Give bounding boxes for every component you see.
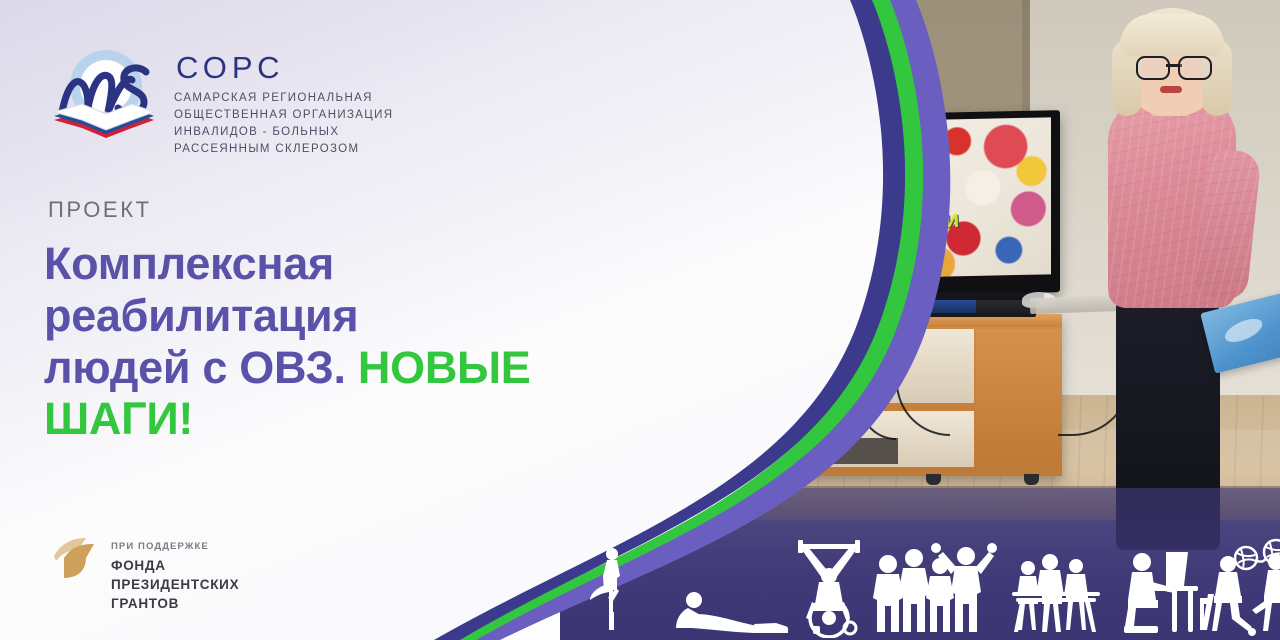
floor-mat (832, 438, 898, 464)
av-receiver (730, 349, 858, 377)
tv-screen-caption-secondary: 90-е (890, 234, 936, 265)
cabinet-caster (714, 474, 729, 485)
presidential-grants-wave-icon (52, 536, 98, 586)
fund-kicker: ПРИ ПОДДЕРЖКЕ (111, 541, 239, 552)
page-title: Комплексная реабилитация людей с ОВЗ. НО… (44, 238, 620, 445)
fund-name: ФОНДА ПРЕЗИДЕНТСКИХ ГРАНТОВ (111, 556, 239, 613)
cable (860, 320, 896, 440)
eyeglass-lens (1178, 56, 1212, 80)
presidential-grants-fund-block[interactable]: ПРИ ПОДДЕРЖКЕ ФОНДА ПРЕЗИДЕНТСКИХ ГРАНТО… (52, 536, 239, 613)
television: 90-е и 90-е SONY (882, 110, 1060, 296)
eyeglasses-icon (1136, 56, 1212, 76)
tv-screen: 90-е и 90-е (889, 117, 1051, 277)
stage-purple-veil (560, 488, 1280, 640)
organization-full-name: САМАРСКАЯ РЕГИОНАЛЬНАЯ ОБЩЕСТВЕННАЯ ОРГА… (174, 90, 393, 158)
cabinet-caster (796, 474, 811, 485)
av-display-led (828, 336, 844, 341)
tv-screen-caption: 90-е и (894, 206, 959, 239)
cabinet-caster (926, 474, 941, 485)
organization-logo-block[interactable]: СОРС САМАРСКАЯ РЕГИОНАЛЬНАЯ ОБЩЕСТВЕННАЯ… (48, 42, 393, 158)
ms-monogram-wave-logo-icon (48, 42, 160, 146)
event-photo: 90-е и 90-е SONY (560, 0, 1280, 640)
cabinet-side-panel (976, 329, 1062, 467)
cabinet-caster (1024, 474, 1039, 485)
organization-acronym: СОРС (176, 52, 393, 83)
plastic-bag (770, 420, 832, 464)
folder-highlight (1222, 314, 1266, 347)
organization-text: СОРС САМАРСКАЯ РЕГИОНАЛЬНАЯ ОБЩЕСТВЕННАЯ… (174, 42, 393, 158)
project-eyebrow-label: ПРОЕКТ (48, 197, 152, 223)
fund-text: ПРИ ПОДДЕРЖКЕ ФОНДА ПРЕЗИДЕНТСКИХ ГРАНТО… (111, 536, 239, 613)
person-lips (1160, 86, 1182, 93)
project-banner: 90-е и 90-е SONY (0, 0, 1280, 640)
page-title-main: Комплексная реабилитация людей с ОВЗ. (44, 238, 358, 393)
eyeglass-lens (1136, 56, 1170, 80)
disc-case (918, 300, 976, 313)
person-hair-front (1120, 14, 1224, 56)
